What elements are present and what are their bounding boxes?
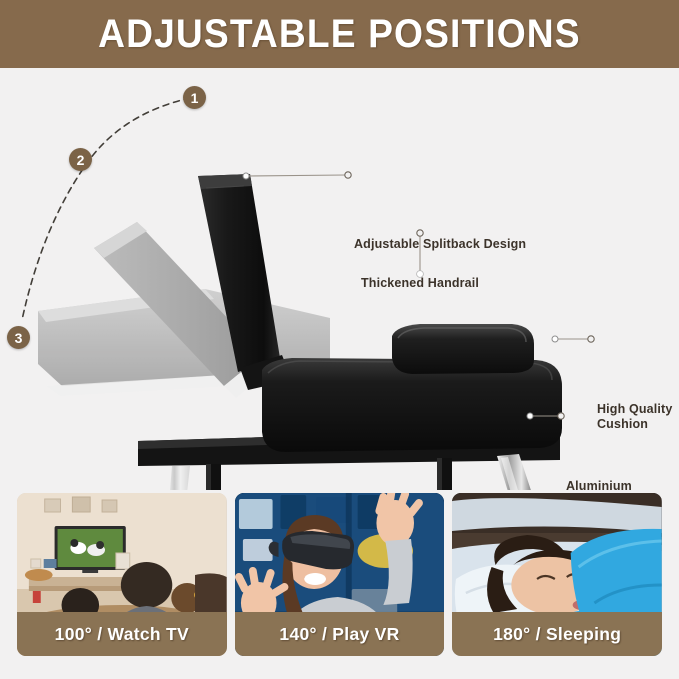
leader-cushion [552,336,594,342]
callout-label-cushion: High Quality Cushion [597,402,672,433]
ghost-alloy-leg [161,466,190,490]
header-banner: ADJUSTABLE POSITIONS [0,0,679,68]
scenario-card-play-vr[interactable]: 140° / Play VR [235,493,445,656]
page-title: ADJUSTABLE POSITIONS [98,12,581,57]
scenario-card-sleeping[interactable]: 180° / Sleeping [452,493,662,656]
sofa-illustration [0,68,679,490]
usage-scenario-cards: 100° / Watch TV [17,493,662,656]
position-marker-1: 1 [183,86,206,109]
leader-splitback [243,172,351,179]
black-leg-left [200,464,226,490]
callout-label-legs: Aluminium Alloy Legs [566,479,632,490]
card-caption-play-vr: 140° / Play VR [235,612,445,656]
position-marker-3: 3 [7,326,30,349]
position-marker-2: 2 [69,148,92,171]
card-caption-watch-tv: 100° / Watch TV [17,612,227,656]
card-caption-sleeping: 180° / Sleeping [452,612,662,656]
callout-label-splitback: Adjustable Splitback Design [354,237,526,252]
product-illustration-stage: 1 2 3 Adjustable Splitback Design Thicke… [0,68,679,490]
callout-label-handrail: Thickened Handrail [361,276,479,291]
scenario-card-watch-tv[interactable]: 100° / Watch TV [17,493,227,656]
black-leg-right [431,458,457,490]
thickened-handrail [392,324,534,374]
infographic-page: ADJUSTABLE POSITIONS [0,0,679,679]
